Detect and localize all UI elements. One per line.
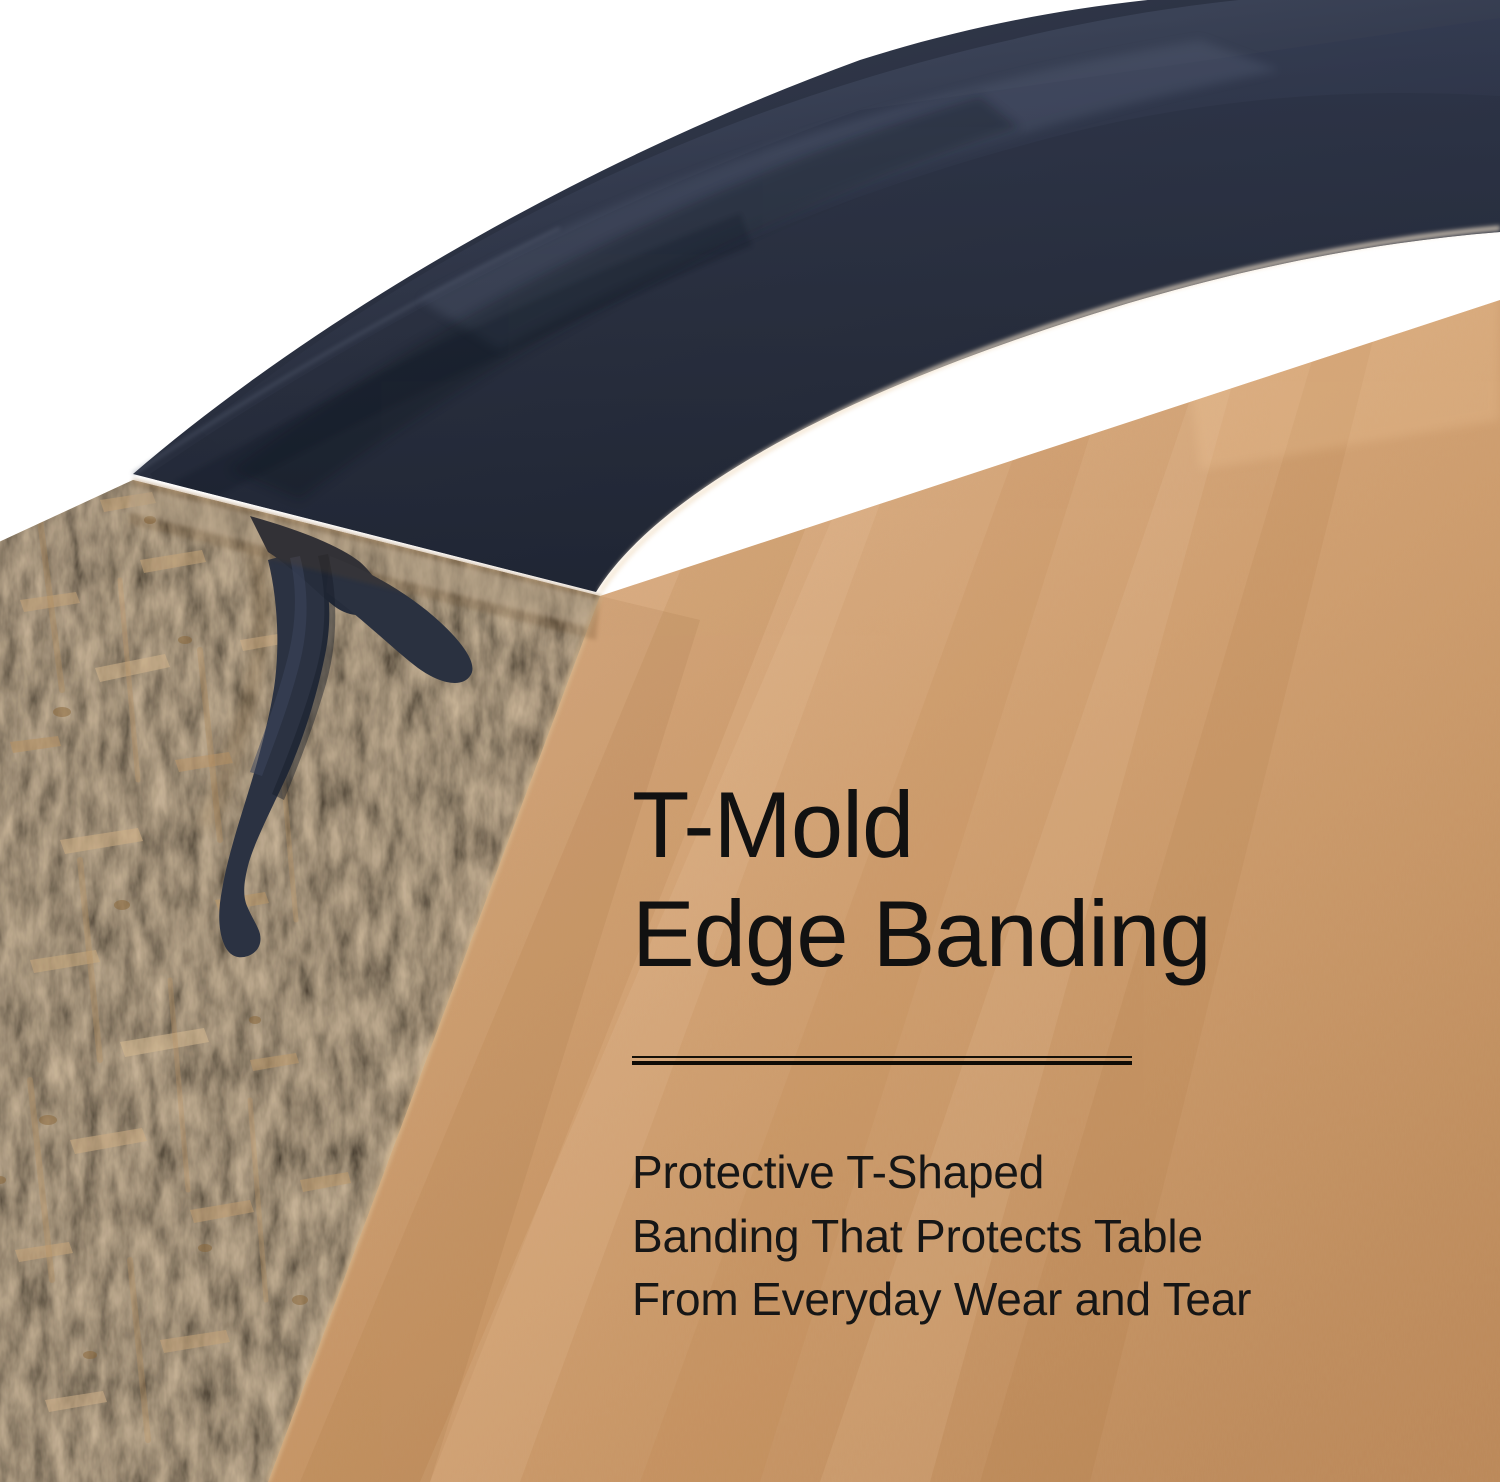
- page-title: T-Mold Edge Banding: [632, 770, 1372, 988]
- divider: [632, 1056, 1132, 1065]
- product-feature-image: T-Mold Edge Banding Protective T-Shaped …: [0, 0, 1500, 1482]
- product-copy-block: T-Mold Edge Banding Protective T-Shaped …: [632, 770, 1372, 1331]
- divider-line-bottom: [632, 1061, 1132, 1065]
- product-description: Protective T-Shaped Banding That Protect…: [632, 1141, 1372, 1331]
- divider-line-top: [632, 1056, 1132, 1058]
